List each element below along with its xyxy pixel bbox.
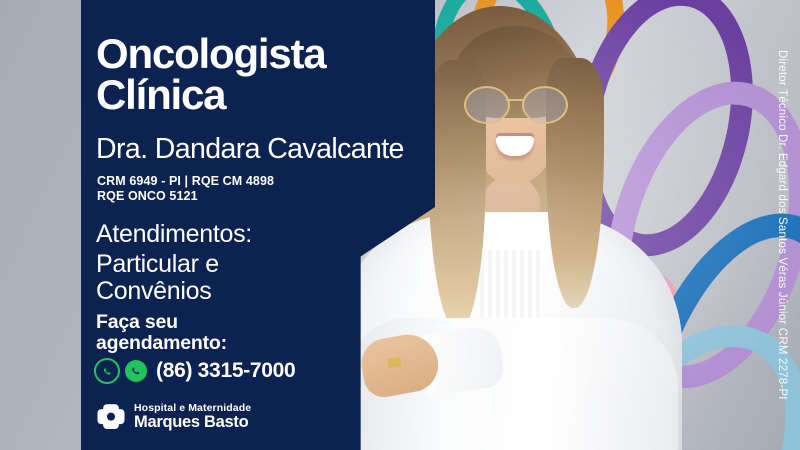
credentials: CRM 6949 - PI | RQE CM 4898 RQE ONCO 512… xyxy=(97,174,274,205)
panel-copy-layer: Oncologista Clínica Dra. Dandara Cavalca… xyxy=(81,0,481,450)
medical-cross-icon xyxy=(96,402,126,432)
headline-line-1: Oncologista xyxy=(96,34,326,75)
credentials-line-2: RQE ONCO 5121 xyxy=(97,189,274,204)
whatsapp-outline-icon[interactable] xyxy=(94,358,120,384)
oncology-doctor-advertisement: Oncologista Clínica Dra. Dandara Cavalca… xyxy=(0,0,800,450)
services-line-1: Particular e xyxy=(96,251,219,278)
services-list: Particular e Convênios xyxy=(96,251,219,304)
whatsapp-solid-icon[interactable] xyxy=(125,360,147,382)
hospital-logo-text: Hospital e Maternidade Marques Basto xyxy=(134,403,251,431)
phone-number[interactable]: (86) 3315-7000 xyxy=(156,359,295,383)
services-heading: Atendimentos: xyxy=(96,220,252,249)
technical-director-text: Diretor Técnico Dr. Edgard dos Santos Vé… xyxy=(776,50,788,400)
cta-line-2: agendamento: xyxy=(96,333,227,354)
doctor-name: Dra. Dandara Cavalcante xyxy=(96,133,404,166)
credentials-line-1: CRM 6949 - PI | RQE CM 4898 xyxy=(97,174,274,189)
phone-contact-row[interactable]: (86) 3315-7000 xyxy=(94,358,295,384)
page-title: Oncologista Clínica xyxy=(96,34,326,115)
headline-line-2: Clínica xyxy=(96,75,326,116)
hospital-logo-line-2: Marques Basto xyxy=(134,414,251,431)
cta-line-1: Faça seu xyxy=(96,312,227,333)
technical-director-strip: Diretor Técnico Dr. Edgard dos Santos Vé… xyxy=(768,0,796,450)
hospital-logo: Hospital e Maternidade Marques Basto xyxy=(96,402,251,432)
appointment-cta: Faça seu agendamento: xyxy=(96,312,227,354)
services-line-2: Convênios xyxy=(96,278,219,305)
